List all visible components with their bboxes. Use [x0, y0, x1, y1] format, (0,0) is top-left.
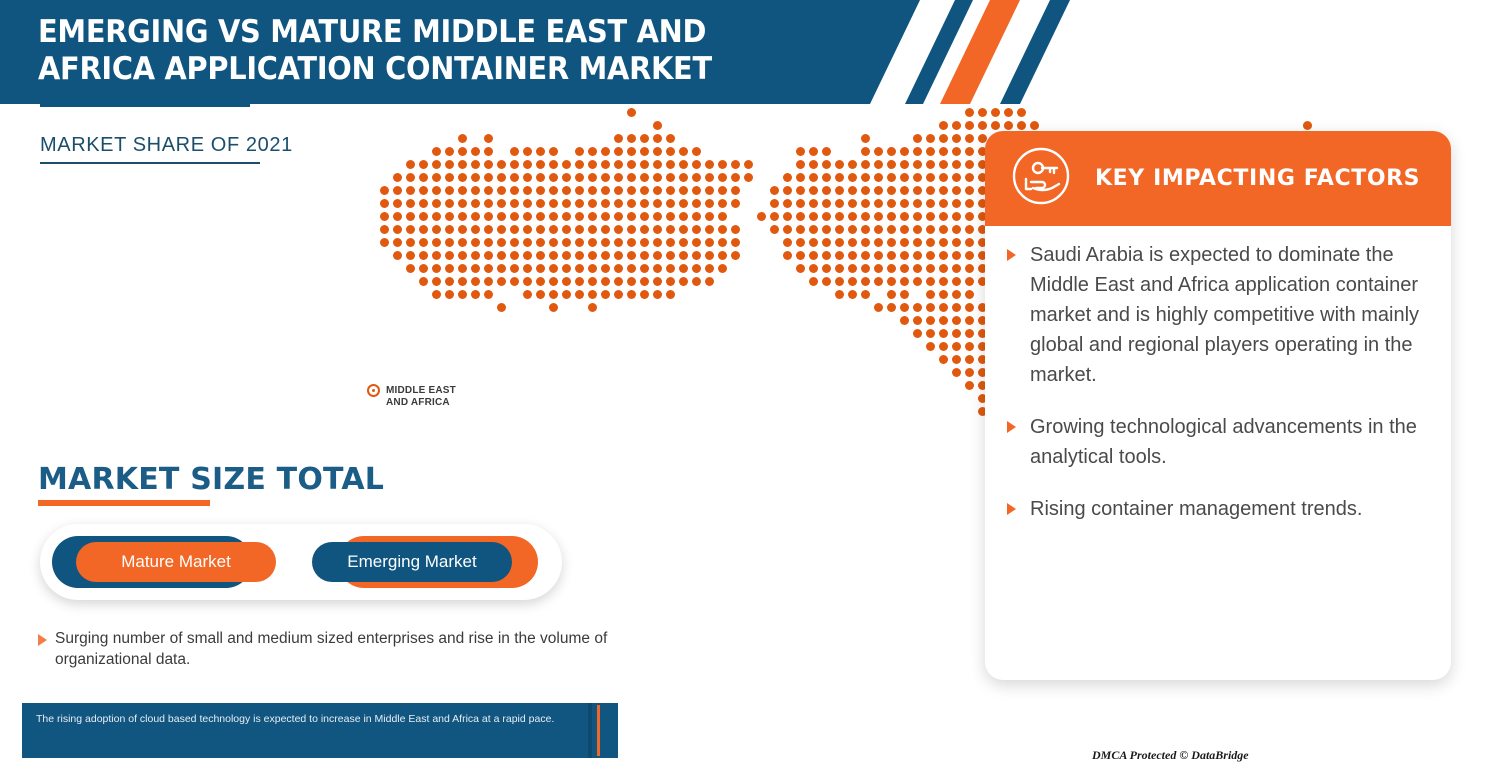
map-dot: [822, 160, 831, 169]
page-title-line-1: EMERGING VS MATURE MIDDLE EAST AND: [38, 14, 801, 51]
map-dot: [991, 121, 1000, 130]
map-dot: [900, 238, 909, 247]
map-dot: [575, 251, 584, 260]
map-dot: [848, 199, 857, 208]
map-dot: [809, 277, 818, 286]
map-dot: [406, 160, 415, 169]
map-dot: [861, 199, 870, 208]
map-dot: [952, 160, 961, 169]
map-dot: [627, 108, 636, 117]
legend-pill-emerging[interactable]: Emerging Market: [312, 542, 512, 582]
map-dot: [965, 290, 974, 299]
map-dot: [601, 173, 610, 182]
map-dot: [926, 134, 935, 143]
map-dot: [952, 186, 961, 195]
map-dot: [471, 264, 480, 273]
map-dot: [471, 147, 480, 156]
map-dot: [939, 225, 948, 234]
map-dot: [965, 251, 974, 260]
page-title: EMERGING VS MATURE MIDDLE EAST AND AFRIC…: [38, 14, 801, 88]
map-dot: [796, 264, 805, 273]
map-dot: [601, 147, 610, 156]
map-dot: [666, 147, 675, 156]
map-dot: [874, 225, 883, 234]
legend-item-emerging-market[interactable]: Emerging Market: [312, 536, 562, 588]
map-dot: [523, 251, 532, 260]
map-dot: [588, 212, 597, 221]
map-dot: [445, 290, 454, 299]
map-dot: [484, 238, 493, 247]
map-dot: [848, 212, 857, 221]
map-dot: [926, 225, 935, 234]
map-dot: [627, 290, 636, 299]
map-dot: [406, 199, 415, 208]
map-dot: [887, 173, 896, 182]
map-dot: [679, 251, 688, 260]
map-dot: [965, 355, 974, 364]
map-dot: [484, 212, 493, 221]
market-size-bullet: Surging number of small and medium sized…: [38, 628, 618, 670]
map-dot: [471, 212, 480, 221]
map-dot: [926, 199, 935, 208]
map-dot: [536, 225, 545, 234]
map-dot: [900, 212, 909, 221]
map-dot: [679, 186, 688, 195]
map-dot: [419, 199, 428, 208]
map-dot: [510, 186, 519, 195]
map-dot: [822, 264, 831, 273]
market-size-legend: Mature Market Emerging Market: [40, 524, 562, 600]
map-dot: [874, 251, 883, 260]
map-dot: [614, 134, 623, 143]
map-dot: [939, 160, 948, 169]
map-dot: [536, 277, 545, 286]
map-dot: [952, 147, 961, 156]
map-dot: [497, 212, 506, 221]
map-dot: [471, 238, 480, 247]
map-dot: [861, 225, 870, 234]
map-dot: [835, 160, 844, 169]
map-dot: [913, 134, 922, 143]
map-dot: [484, 186, 493, 195]
map-dot: [926, 316, 935, 325]
map-dot: [952, 134, 961, 143]
map-dot: [549, 147, 558, 156]
map-dot: [666, 290, 675, 299]
map-dot: [406, 251, 415, 260]
map-dot: [692, 251, 701, 260]
map-dot: [835, 264, 844, 273]
map-dot: [471, 225, 480, 234]
map-dot: [861, 264, 870, 273]
map-dot: [614, 277, 623, 286]
map-dot: [744, 173, 753, 182]
map-dot: [783, 186, 792, 195]
map-dot: [809, 186, 818, 195]
market-share-rule-bottom: [40, 162, 260, 164]
map-dot: [1030, 121, 1039, 130]
map-dot: [679, 225, 688, 234]
map-dot: [939, 355, 948, 364]
map-dot: [575, 290, 584, 299]
map-dot: [510, 264, 519, 273]
map-dot: [640, 147, 649, 156]
map-dot: [510, 277, 519, 286]
map-dot: [666, 277, 675, 286]
map-dot: [900, 173, 909, 182]
map-dot: [1303, 121, 1312, 130]
map-dot: [874, 173, 883, 182]
map-dot: [549, 251, 558, 260]
map-dot: [523, 290, 532, 299]
triangle-bullet-icon: [1007, 421, 1016, 433]
map-dot: [458, 134, 467, 143]
map-dot: [718, 173, 727, 182]
map-dot: [913, 251, 922, 260]
map-dot: [679, 277, 688, 286]
map-dot: [380, 225, 389, 234]
map-dot: [380, 186, 389, 195]
map-dot: [510, 147, 519, 156]
map-dot: [419, 251, 428, 260]
map-dot: [497, 225, 506, 234]
map-dot: [536, 160, 545, 169]
map-dot: [939, 212, 948, 221]
map-dot: [848, 238, 857, 247]
map-dot: [471, 251, 480, 260]
map-dot: [861, 147, 870, 156]
map-dot: [783, 173, 792, 182]
map-dot: [536, 186, 545, 195]
map-dot: [952, 121, 961, 130]
map-dot: [653, 199, 662, 208]
map-dot: [601, 238, 610, 247]
legend-item-mature-market[interactable]: Mature Market: [52, 536, 302, 588]
map-dot: [549, 290, 558, 299]
map-dot: [770, 212, 779, 221]
map-dot: [952, 355, 961, 364]
map-dot: [575, 212, 584, 221]
triangle-bullet-icon: [1007, 249, 1016, 261]
map-dot: [809, 147, 818, 156]
map-dot: [770, 186, 779, 195]
map-dot: [939, 316, 948, 325]
map-dot: [458, 251, 467, 260]
map-dot: [757, 212, 766, 221]
map-dot: [939, 147, 948, 156]
map-dot: [679, 264, 688, 273]
map-dot: [536, 173, 545, 182]
map-dot: [393, 199, 402, 208]
map-dot: [900, 303, 909, 312]
map-dot: [965, 303, 974, 312]
copyright-notice: DMCA Protected © DataBridge: [1092, 748, 1249, 763]
map-dot: [471, 277, 480, 286]
map-dot: [965, 264, 974, 273]
map-region-label-line-2: AND AFRICA: [386, 397, 496, 409]
map-dot: [588, 277, 597, 286]
map-dot: [679, 173, 688, 182]
map-dot: [887, 303, 896, 312]
map-dot: [640, 186, 649, 195]
map-dot: [458, 225, 467, 234]
map-dot: [445, 173, 454, 182]
map-dot: [601, 160, 610, 169]
map-dot: [627, 134, 636, 143]
map-dot: [445, 225, 454, 234]
map-dot: [445, 264, 454, 273]
map-dot: [887, 264, 896, 273]
map-dot: [432, 290, 441, 299]
map-dot: [653, 225, 662, 234]
map-dot: [939, 264, 948, 273]
map-dot: [458, 212, 467, 221]
map-dot: [653, 173, 662, 182]
map-dot: [874, 199, 883, 208]
map-dot: [406, 186, 415, 195]
map-dot: [627, 212, 636, 221]
map-dot: [393, 173, 402, 182]
map-dot: [679, 212, 688, 221]
map-dot: [705, 238, 714, 247]
map-dot: [666, 134, 675, 143]
map-dot: [380, 238, 389, 247]
map-dot: [965, 212, 974, 221]
map-dot: [718, 264, 727, 273]
map-dot: [692, 277, 701, 286]
map-dot: [640, 173, 649, 182]
map-dot: [783, 251, 792, 260]
map-dot: [562, 212, 571, 221]
market-size-bullet-text: Surging number of small and medium sized…: [55, 628, 618, 670]
map-dot: [458, 238, 467, 247]
map-dot: [809, 160, 818, 169]
map-dot: [965, 199, 974, 208]
map-dot: [627, 160, 636, 169]
map-dot: [484, 225, 493, 234]
map-dot: [640, 238, 649, 247]
hand-holding-key-icon: [1011, 146, 1071, 211]
map-dot: [471, 186, 480, 195]
map-dot: [796, 160, 805, 169]
map-dot: [419, 225, 428, 234]
map-dot: [926, 329, 935, 338]
map-dot: [783, 225, 792, 234]
map-dot: [835, 199, 844, 208]
map-dot: [705, 251, 714, 260]
map-dot: [731, 173, 740, 182]
map-dot: [822, 212, 831, 221]
map-dot: [822, 147, 831, 156]
map-dot: [627, 186, 636, 195]
map-dot: [406, 225, 415, 234]
map-dot: [822, 199, 831, 208]
map-dot: [783, 212, 792, 221]
map-dot: [796, 225, 805, 234]
map-dot: [692, 160, 701, 169]
map-dot: [406, 212, 415, 221]
map-dot: [679, 160, 688, 169]
map-dot: [965, 186, 974, 195]
market-size-title: MARKET SIZE TOTAL: [38, 462, 384, 497]
map-dot: [614, 173, 623, 182]
map-dot: [913, 147, 922, 156]
map-dot: [939, 238, 948, 247]
map-dot: [835, 186, 844, 195]
map-dot: [523, 225, 532, 234]
map-dot: [549, 199, 558, 208]
legend-pill-mature[interactable]: Mature Market: [76, 542, 276, 582]
map-dot: [614, 160, 623, 169]
map-dot: [523, 238, 532, 247]
map-dot: [913, 199, 922, 208]
map-dot: [848, 160, 857, 169]
map-dot: [809, 173, 818, 182]
map-dot: [692, 212, 701, 221]
footer-note-text: The rising adoption of cloud based techn…: [36, 712, 556, 727]
map-dot: [887, 290, 896, 299]
map-dot: [458, 264, 467, 273]
map-dot: [445, 147, 454, 156]
map-dot: [653, 186, 662, 195]
map-dot: [393, 251, 402, 260]
page-title-line-2: AFRICA APPLICATION CONTAINER MARKET: [38, 51, 801, 88]
map-dot: [497, 173, 506, 182]
map-region-label-line-1: MIDDLE EAST: [386, 385, 496, 397]
map-dot: [939, 134, 948, 143]
map-dot: [939, 329, 948, 338]
map-dot: [432, 147, 441, 156]
key-impacting-factors-panel: KEY IMPACTING FACTORS Saudi Arabia is ex…: [985, 131, 1451, 680]
map-dot: [588, 290, 597, 299]
map-dot: [432, 264, 441, 273]
map-dot: [653, 238, 662, 247]
map-dot: [562, 238, 571, 247]
map-dot: [692, 225, 701, 234]
map-dot: [445, 160, 454, 169]
map-dot: [952, 368, 961, 377]
map-dot: [575, 264, 584, 273]
map-dot: [913, 303, 922, 312]
map-dot: [588, 199, 597, 208]
map-dot: [419, 212, 428, 221]
map-dot: [562, 186, 571, 195]
map-dot: [926, 290, 935, 299]
map-dot: [458, 160, 467, 169]
map-dot: [861, 160, 870, 169]
map-dot: [796, 212, 805, 221]
map-dot: [484, 160, 493, 169]
map-dot: [471, 199, 480, 208]
triangle-bullet-icon: [38, 634, 47, 646]
map-dot: [536, 212, 545, 221]
map-dot: [484, 251, 493, 260]
map-dot: [666, 238, 675, 247]
map-dot: [939, 186, 948, 195]
map-dot: [666, 199, 675, 208]
map-dot: [614, 238, 623, 247]
map-dot: [939, 342, 948, 351]
map-dot: [718, 251, 727, 260]
map-dot: [523, 199, 532, 208]
map-dot: [939, 303, 948, 312]
map-dot: [978, 108, 987, 117]
map-dot: [965, 277, 974, 286]
map-dot: [666, 212, 675, 221]
map-dot: [887, 147, 896, 156]
map-dot: [562, 277, 571, 286]
map-dot: [718, 212, 727, 221]
map-dot: [705, 160, 714, 169]
map-dot: [549, 238, 558, 247]
map-dot: [952, 316, 961, 325]
map-dot: [965, 108, 974, 117]
map-dot: [900, 251, 909, 260]
map-dot: [796, 199, 805, 208]
map-dot: [666, 264, 675, 273]
footer-divider: [588, 703, 592, 758]
map-dot: [627, 147, 636, 156]
map-dot: [653, 290, 662, 299]
map-dot: [770, 199, 779, 208]
map-dot: [913, 316, 922, 325]
map-dot: [848, 290, 857, 299]
map-dot: [484, 173, 493, 182]
map-dot: [523, 173, 532, 182]
map-dot: [978, 121, 987, 130]
map-dot: [640, 264, 649, 273]
map-dot: [497, 186, 506, 195]
panel-header: KEY IMPACTING FACTORS: [985, 131, 1451, 226]
map-dot: [588, 186, 597, 195]
map-dot: [926, 160, 935, 169]
map-dot: [588, 251, 597, 260]
map-dot: [692, 238, 701, 247]
map-dot: [627, 199, 636, 208]
map-dot: [913, 264, 922, 273]
map-dot: [601, 199, 610, 208]
key-factor-item: Saudi Arabia is expected to dominate the…: [1007, 240, 1421, 390]
map-dot: [822, 277, 831, 286]
map-dot: [874, 212, 883, 221]
map-dot: [523, 186, 532, 195]
map-dot: [874, 238, 883, 247]
map-dot: [952, 225, 961, 234]
map-dot: [705, 264, 714, 273]
map-dot: [679, 238, 688, 247]
map-dot: [731, 199, 740, 208]
map-dot: [627, 277, 636, 286]
map-dot: [887, 251, 896, 260]
map-dot: [484, 147, 493, 156]
map-dot: [926, 173, 935, 182]
map-dot: [614, 186, 623, 195]
map-dot: [900, 290, 909, 299]
map-dot: [445, 277, 454, 286]
map-dot: [419, 173, 428, 182]
map-dot: [692, 173, 701, 182]
map-dot: [614, 147, 623, 156]
map-dot: [432, 277, 441, 286]
map-dot: [588, 238, 597, 247]
footer-accent-line: [597, 705, 600, 756]
map-dot: [874, 303, 883, 312]
map-dot: [419, 277, 428, 286]
map-dot: [458, 290, 467, 299]
map-dot: [601, 290, 610, 299]
map-dot: [588, 173, 597, 182]
map-dot: [640, 290, 649, 299]
